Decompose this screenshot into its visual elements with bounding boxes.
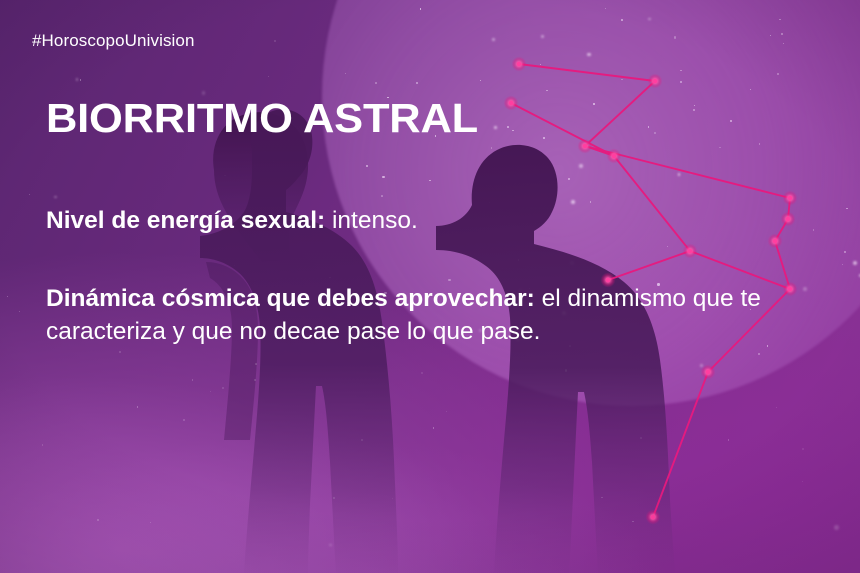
cosmic-dynamic-label: Dinámica cósmica que debes aprovechar: <box>46 285 535 312</box>
energy-level-label: Nivel de energía sexual: <box>46 207 325 234</box>
cosmic-dynamic-paragraph: Dinámica cósmica que debes aprovechar: e… <box>46 282 806 348</box>
horoscope-card: #HoroscopoUnivision BIORRITMO ASTRAL Niv… <box>0 0 860 573</box>
energy-level-paragraph: Nivel de energía sexual: intenso. <box>46 204 806 237</box>
page-title: BIORRITMO ASTRAL <box>46 96 478 140</box>
energy-level-value: intenso. <box>325 207 418 234</box>
hashtag-label: #HoroscopoUnivision <box>32 31 195 51</box>
text-content: #HoroscopoUnivision BIORRITMO ASTRAL Niv… <box>0 0 860 573</box>
